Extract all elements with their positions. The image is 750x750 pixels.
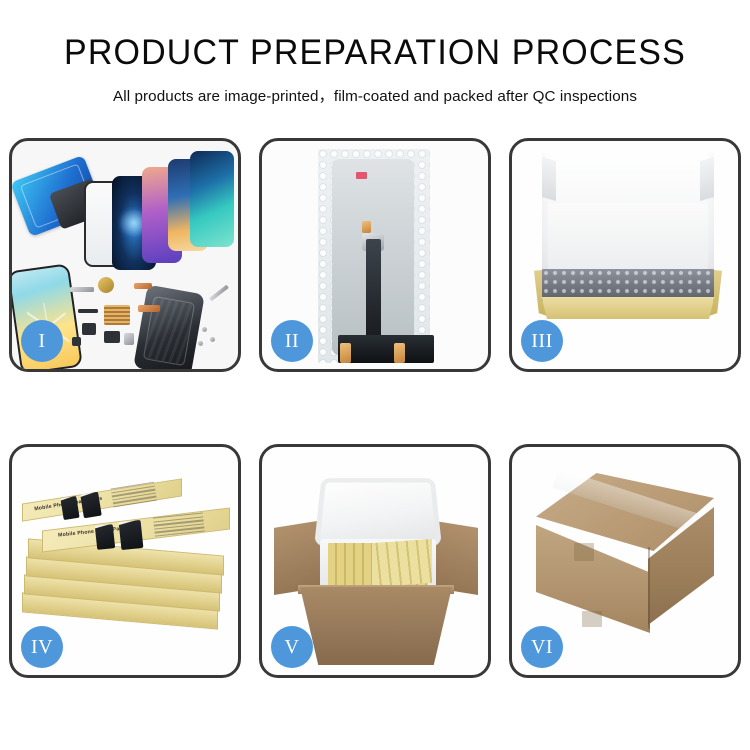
- styrofoam-lid: [314, 478, 442, 546]
- ribbon-cable-part: [138, 305, 160, 312]
- connector-grid-part: [104, 305, 130, 325]
- step-panel-3[interactable]: III: [509, 138, 741, 372]
- vibrator-part: [104, 331, 120, 343]
- white-foam-sheet: [548, 203, 708, 269]
- step-badge-4: IV: [21, 626, 63, 668]
- box-spec-lines-1: [111, 482, 158, 510]
- screwdriver-tool: [209, 285, 229, 302]
- lid-flap-right: [700, 157, 714, 201]
- phone-backplate: [133, 285, 205, 369]
- camera-module-part: [82, 323, 96, 335]
- lcd-driver-board: [338, 335, 434, 363]
- button-part: [72, 337, 81, 346]
- speaker-mesh-part: [70, 287, 94, 292]
- step-badge-2: II: [271, 320, 313, 362]
- step-panel-6[interactable]: VI: [509, 444, 741, 678]
- box-art-phone-1b: [80, 492, 102, 519]
- packed-yellow-boxes-row2: [372, 539, 432, 587]
- screw-part-c: [198, 341, 203, 346]
- bubble-wrapped-contents: [542, 269, 714, 301]
- gold-coil-part: [98, 277, 114, 293]
- process-steps-grid: I II: [9, 138, 741, 678]
- box-art-phone-2a: [95, 524, 115, 550]
- box-spec-lines-2: [153, 512, 205, 539]
- carton-patch-lower: [582, 611, 602, 627]
- box-art-phone-2b: [119, 520, 144, 550]
- lcd-screen-assembly: [332, 159, 414, 355]
- bubble-wrap-bag: [318, 149, 430, 363]
- page-subtitle: All products are image-printed，film-coat…: [0, 84, 750, 106]
- step-panel-1[interactable]: I: [9, 138, 241, 372]
- gold-contact-right: [394, 343, 405, 363]
- carton-patch-upper: [574, 543, 594, 561]
- box-art-phone-1a: [60, 496, 79, 520]
- pink-qc-sticker: [356, 172, 367, 179]
- sim-tray-part: [124, 333, 134, 345]
- step-panel-4[interactable]: Mobile Phone Spare Parts Mobile Phone Sp…: [9, 444, 241, 678]
- gold-contact-left: [340, 343, 351, 363]
- step-badge-6: VI: [521, 626, 563, 668]
- step-badge-3: III: [521, 320, 563, 362]
- product-preparation-infographic: PRODUCT PREPARATION PROCESS All products…: [0, 0, 750, 750]
- header: PRODUCT PREPARATION PROCESS All products…: [0, 0, 750, 106]
- carton-body: [300, 587, 452, 665]
- lid-flap-left: [542, 157, 556, 201]
- step-panel-2[interactable]: II: [259, 138, 491, 372]
- lcd-flex-cable: [366, 239, 381, 349]
- kraft-tray-front: [538, 297, 718, 319]
- phone-display-teal: [190, 151, 234, 247]
- page-title: PRODUCT PREPARATION PROCESS: [11, 34, 739, 73]
- screw-part-a: [202, 327, 207, 332]
- step-badge-1: I: [21, 320, 63, 362]
- screw-part-b: [210, 337, 215, 342]
- gold-contact-top: [362, 221, 371, 233]
- carton-edge-seam: [648, 547, 650, 629]
- flex-cable-part: [134, 283, 152, 289]
- step-panel-5[interactable]: V: [259, 444, 491, 678]
- step-badge-5: V: [271, 626, 313, 668]
- antenna-strip-part: [78, 309, 98, 313]
